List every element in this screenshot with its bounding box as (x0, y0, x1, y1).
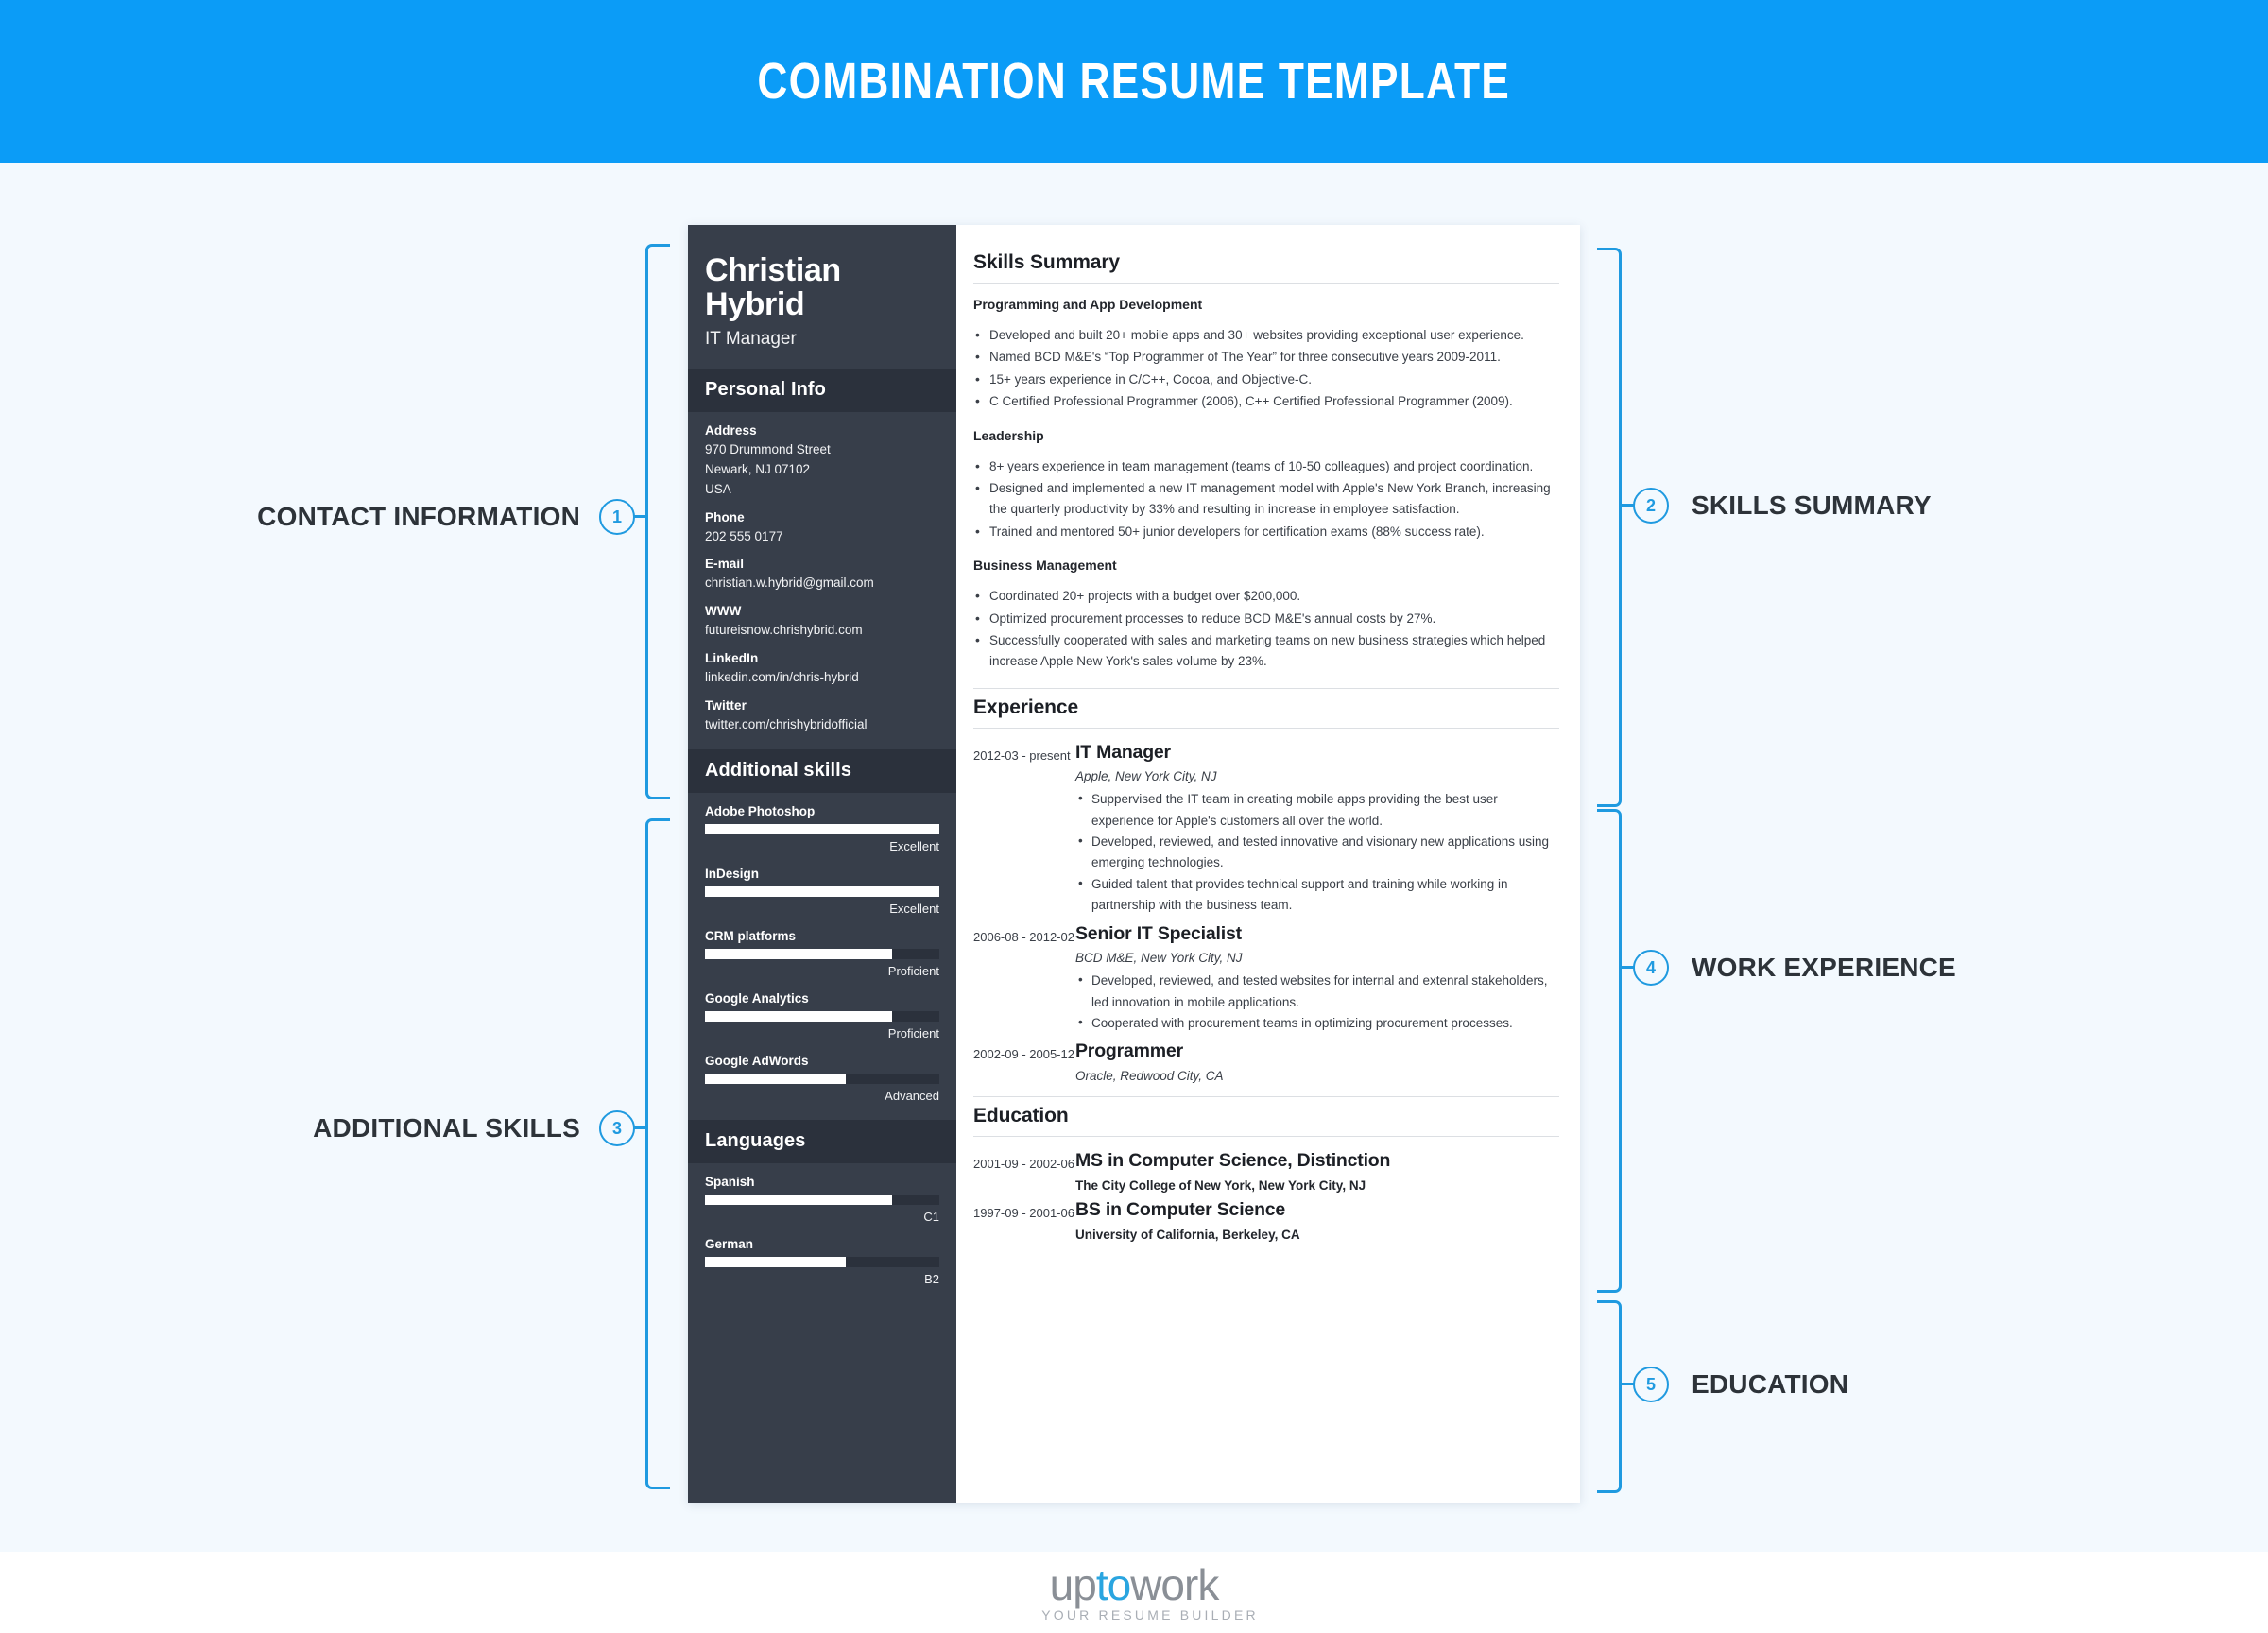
entry-date: 2012-03 - present (973, 742, 1075, 917)
entry-body: MS in Computer Science, DistinctionThe C… (1075, 1150, 1559, 1193)
experience-entry: 2002-09 - 2005-12ProgrammerOracle, Redwo… (973, 1040, 1559, 1082)
education-entry: 1997-09 - 2001-06BS in Computer ScienceU… (973, 1199, 1559, 1242)
page-footer: uptowork YOUR RESUME BUILDER (0, 1552, 2268, 1633)
additional-skills-body: Adobe PhotoshopExcellentInDesignExcellen… (688, 793, 956, 1120)
candidate-name: Christian Hybrid (705, 253, 939, 322)
entry-date: 2002-09 - 2005-12 (973, 1040, 1075, 1082)
skill-level-label: Excellent (705, 902, 939, 916)
name-block: Christian Hybrid IT Manager (688, 225, 956, 369)
field-value: christian.w.hybrid@gmail.com (705, 574, 939, 593)
uptowork-logo: uptowork YOUR RESUME BUILDER (1009, 1563, 1259, 1622)
education-heading: Education (973, 1105, 1559, 1136)
additional-skills-heading: Additional skills (688, 749, 956, 793)
entry-institution: The City College of New York, New York C… (1075, 1178, 1559, 1193)
marker-4: 4 (1633, 950, 1669, 986)
skill-bar-fill (705, 1074, 846, 1084)
skill-level-label: C1 (705, 1210, 939, 1224)
entry-date: 2006-08 - 2012-02 (973, 923, 1075, 1035)
experience-heading: Experience (973, 696, 1559, 728)
personal-info-heading: Personal Info (688, 369, 956, 412)
entry-body: IT ManagerApple, New York City, NJSupper… (1075, 742, 1559, 917)
bullet: Developed, reviewed, and tested innovati… (1075, 832, 1559, 874)
skill-level-label: Proficient (705, 964, 939, 978)
entry-body: ProgrammerOracle, Redwood City, CA (1075, 1040, 1559, 1082)
annotation-label-work-experience: WORK EXPERIENCE (1692, 953, 1956, 983)
skill-name: Adobe Photoshop (705, 804, 939, 818)
skills-group-bullets: Coordinated 20+ projects with a budget o… (973, 586, 1559, 673)
skills-group-title: Leadership (973, 428, 1559, 443)
education-entries: 2001-09 - 2002-06MS in Computer Science,… (973, 1150, 1559, 1243)
skill-bar-track (705, 1011, 939, 1022)
personal-info-field: E-mailchristian.w.hybrid@gmail.com (705, 557, 939, 593)
field-value: twitter.com/chrishybridofficial (705, 715, 939, 735)
personal-info-field: Address970 Drummond StreetNewark, NJ 071… (705, 423, 939, 500)
skills-group-bullets: Developed and built 20+ mobile apps and … (973, 325, 1559, 413)
annotation-label-additional-skills: ADDITIONAL SKILLS (0, 1113, 580, 1143)
field-value: futureisnow.chrishybrid.com (705, 621, 939, 641)
field-label: LinkedIn (705, 651, 939, 665)
skills-group: Business ManagementCoordinated 20+ proje… (973, 558, 1559, 673)
skill-level-label: Advanced (705, 1089, 939, 1103)
bullet: Optimized procurement processes to reduc… (973, 609, 1559, 629)
bracket-work-experience (1597, 809, 1622, 1293)
additional-skill-row: Adobe PhotoshopExcellent (705, 804, 939, 853)
annotation-label-skills-summary: SKILLS SUMMARY (1692, 490, 1932, 521)
bullet: Named BCD M&E's “Top Programmer of The Y… (973, 347, 1559, 368)
entry-title: Programmer (1075, 1040, 1559, 1062)
page-title: COMBINATION RESUME TEMPLATE (758, 52, 1511, 111)
skill-bar-fill (705, 824, 939, 834)
skills-group-title: Business Management (973, 558, 1559, 573)
experience-entry: 2006-08 - 2012-02Senior IT SpecialistBCD… (973, 923, 1559, 1035)
experience-entries: 2012-03 - presentIT ManagerApple, New Yo… (973, 742, 1559, 1083)
skill-bar-track (705, 1074, 939, 1084)
skills-group-title: Programming and App Development (973, 297, 1559, 312)
field-label: Phone (705, 510, 939, 524)
logo-tagline: YOUR RESUME BUILDER (1041, 1608, 1259, 1622)
skill-bar-fill (705, 949, 892, 959)
divider (973, 1136, 1559, 1137)
bracket-contact-information (645, 244, 670, 799)
language-row: GermanB2 (705, 1237, 939, 1286)
logo-wordmark: uptowork (1009, 1563, 1259, 1607)
skill-bar-fill (705, 1011, 892, 1022)
annotation-label-education: EDUCATION (1692, 1369, 1848, 1400)
personal-info-field: Phone202 555 0177 (705, 510, 939, 547)
skill-name: Spanish (705, 1175, 939, 1189)
bullet: Guided talent that provides technical su… (1075, 874, 1559, 917)
bullet: 15+ years experience in C/C++, Cocoa, an… (973, 370, 1559, 390)
skill-bar-track (705, 949, 939, 959)
entry-date: 2001-09 - 2002-06 (973, 1150, 1075, 1193)
bullet: C Certified Professional Programmer (200… (973, 391, 1559, 412)
entry-institution: University of California, Berkeley, CA (1075, 1228, 1559, 1242)
entry-organization: Apple, New York City, NJ (1075, 769, 1559, 783)
bullet: Developed and built 20+ mobile apps and … (973, 325, 1559, 346)
entry-bullets: Suppervised the IT team in creating mobi… (1075, 789, 1559, 916)
field-value: 202 555 0177 (705, 527, 939, 547)
personal-info-body: Address970 Drummond StreetNewark, NJ 071… (688, 412, 956, 749)
entry-body: BS in Computer ScienceUniversity of Cali… (1075, 1199, 1559, 1242)
entry-title: IT Manager (1075, 742, 1559, 764)
field-label: Address (705, 423, 939, 438)
skill-name: German (705, 1237, 939, 1251)
entry-organization: BCD M&E, New York City, NJ (1075, 951, 1559, 965)
entry-title: Senior IT Specialist (1075, 923, 1559, 945)
bullet: Developed, reviewed, and tested websites… (1075, 971, 1559, 1013)
bullet: Suppervised the IT team in creating mobi… (1075, 789, 1559, 832)
entry-body: Senior IT SpecialistBCD M&E, New York Ci… (1075, 923, 1559, 1035)
divider (973, 1096, 1559, 1097)
languages-heading: Languages (688, 1120, 956, 1163)
skill-name: CRM platforms (705, 929, 939, 943)
entry-date: 1997-09 - 2001-06 (973, 1199, 1075, 1242)
skill-level-label: B2 (705, 1272, 939, 1286)
personal-info-field: Twittertwitter.com/chrishybridofficial (705, 698, 939, 735)
personal-info-field: WWWfutureisnow.chrishybrid.com (705, 604, 939, 641)
bullet: Coordinated 20+ projects with a budget o… (973, 586, 1559, 607)
education-entry: 2001-09 - 2002-06MS in Computer Science,… (973, 1150, 1559, 1193)
candidate-role: IT Manager (705, 329, 939, 350)
skill-bar-fill (705, 1195, 892, 1205)
resume-sidebar: Christian Hybrid IT Manager Personal Inf… (688, 225, 956, 1503)
bullet: Cooperated with procurement teams in opt… (1075, 1013, 1559, 1034)
skills-group-bullets: 8+ years experience in team management (… (973, 456, 1559, 543)
resume-card: Christian Hybrid IT Manager Personal Inf… (688, 225, 1580, 1503)
entry-bullets: Developed, reviewed, and tested websites… (1075, 971, 1559, 1034)
field-label: Twitter (705, 698, 939, 713)
skills-group: Programming and App DevelopmentDeveloped… (973, 297, 1559, 413)
page-banner: COMBINATION RESUME TEMPLATE (0, 0, 2268, 163)
field-value: linkedin.com/in/chris-hybrid (705, 668, 939, 688)
skill-name: Google Analytics (705, 991, 939, 1006)
skill-bar-track (705, 1195, 939, 1205)
languages-body: SpanishC1GermanB2 (688, 1163, 956, 1303)
personal-info-field: LinkedInlinkedin.com/in/chris-hybrid (705, 651, 939, 688)
resume-main-column: Skills Summary Programming and App Devel… (956, 225, 1580, 1503)
entry-title: BS in Computer Science (1075, 1199, 1559, 1221)
bullet: Designed and implemented a new IT manage… (973, 478, 1559, 521)
field-label: WWW (705, 604, 939, 618)
skill-bar-track (705, 1257, 939, 1267)
marker-2: 2 (1633, 488, 1669, 524)
skill-level-label: Excellent (705, 839, 939, 853)
additional-skill-row: InDesignExcellent (705, 867, 939, 916)
logo-work: work (1130, 1560, 1218, 1609)
skill-bar-fill (705, 886, 939, 897)
additional-skill-row: CRM platformsProficient (705, 929, 939, 978)
field-label: E-mail (705, 557, 939, 571)
logo-up: up (1050, 1560, 1096, 1609)
marker-1: 1 (599, 499, 635, 535)
skills-summary-heading: Skills Summary (973, 251, 1559, 283)
annotation-label-contact-information: CONTACT INFORMATION (0, 502, 580, 532)
marker-3: 3 (599, 1110, 635, 1146)
logo-to: to (1096, 1560, 1130, 1609)
skill-name: Google AdWords (705, 1054, 939, 1068)
skills-summary-groups: Programming and App DevelopmentDeveloped… (973, 297, 1559, 673)
divider (973, 283, 1559, 284)
entry-title: MS in Computer Science, Distinction (1075, 1150, 1559, 1172)
bullet: Successfully cooperated with sales and m… (973, 630, 1559, 673)
bullet: 8+ years experience in team management (… (973, 456, 1559, 477)
language-row: SpanishC1 (705, 1175, 939, 1224)
marker-5: 5 (1633, 1367, 1669, 1402)
field-value: 970 Drummond StreetNewark, NJ 07102USA (705, 440, 939, 500)
skill-level-label: Proficient (705, 1026, 939, 1040)
experience-entry: 2012-03 - presentIT ManagerApple, New Yo… (973, 742, 1559, 917)
bullet: Trained and mentored 50+ junior develope… (973, 522, 1559, 542)
entry-organization: Oracle, Redwood City, CA (1075, 1069, 1559, 1083)
bracket-skills-summary (1597, 248, 1622, 807)
divider (973, 688, 1559, 689)
additional-skill-row: Google AnalyticsProficient (705, 991, 939, 1040)
skill-bar-track (705, 824, 939, 834)
skill-name: InDesign (705, 867, 939, 881)
divider (973, 728, 1559, 729)
skill-bar-track (705, 886, 939, 897)
bracket-additional-skills (645, 818, 670, 1489)
bracket-education (1597, 1300, 1622, 1493)
additional-skill-row: Google AdWordsAdvanced (705, 1054, 939, 1103)
skills-group: Leadership8+ years experience in team ma… (973, 428, 1559, 543)
skill-bar-fill (705, 1257, 846, 1267)
